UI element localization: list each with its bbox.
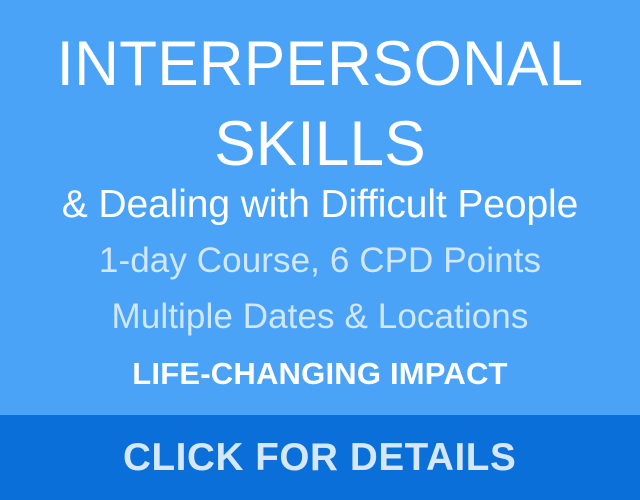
cta-button-label: CLICK FOR DETAILS <box>123 436 516 480</box>
headline-line-primary: INTERPERSONAL <box>5 24 635 104</box>
detail-line-dates-locations: Multiple Dates & Locations <box>0 296 640 338</box>
detail-line-course-info: 1-day Course, 6 CPD Points <box>0 240 640 282</box>
headline-line-secondary: SKILLS <box>5 104 635 184</box>
subheadline: & Dealing with Difficult People <box>0 182 640 228</box>
impact-statement: LIFE-CHANGING IMPACT <box>0 355 640 393</box>
advertisement-banner[interactable]: INTERPERSONAL SKILLS & Dealing with Diff… <box>0 0 640 500</box>
banner-content-area: INTERPERSONAL SKILLS & Dealing with Diff… <box>0 0 640 415</box>
cta-button[interactable]: CLICK FOR DETAILS <box>0 415 640 500</box>
headline-block: INTERPERSONAL SKILLS <box>0 24 640 184</box>
